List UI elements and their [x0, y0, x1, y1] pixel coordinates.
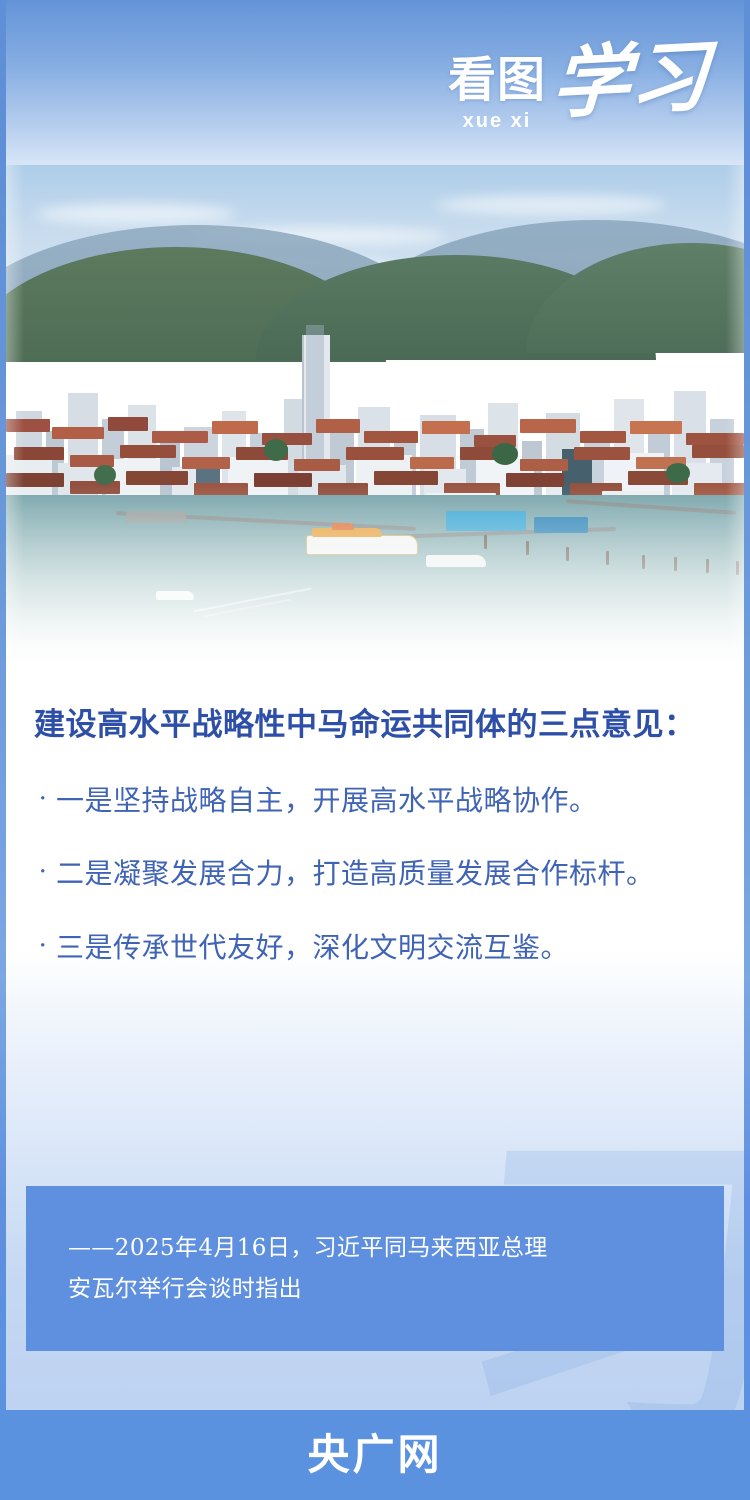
attribution-line-1: ——2025年4月16日，习近平同马来西亚总理	[68, 1228, 548, 1268]
brand-logo-pinyin: xue xi	[463, 111, 532, 131]
poster-header: 看图 xue xi 学习	[0, 0, 750, 180]
bullet-dot-icon: ·	[30, 930, 56, 963]
attribution-text: ——2025年4月16日，习近平同马来西亚总理 安瓦尔举行会谈时指出	[68, 1228, 548, 1309]
attribution-line-2: 安瓦尔举行会谈时指出	[68, 1269, 548, 1309]
bullet-dot-icon: ·	[30, 856, 56, 889]
bullet-list: · 一是坚持战略自主，开展高水平战略协作。 · 二是凝聚发展合力，打造高质量发展…	[30, 783, 720, 966]
bullet-text: 一是坚持战略自主，开展高水平战略协作。	[56, 783, 720, 819]
bullet-text: 三是传承世代友好，深化文明交流互鉴。	[56, 930, 720, 966]
bullet-dot-icon: ·	[30, 783, 56, 816]
photo-left-fade	[6, 165, 24, 685]
list-item: · 一是坚持战略自主，开展高水平战略协作。	[30, 783, 720, 819]
brand-logo-kantu: 看图	[448, 56, 546, 104]
bullet-text: 二是凝聚发展合力，打造高质量发展合作标杆。	[56, 856, 720, 892]
left-border-rail	[0, 0, 6, 1410]
brand-logo: 看图 xue xi 学习	[448, 44, 708, 154]
list-item: · 三是传承世代友好，深化文明交流互鉴。	[30, 930, 720, 966]
photo-right-fade	[726, 165, 744, 685]
content-heading: 建设高水平战略性中马命运共同体的三点意见：	[34, 706, 720, 745]
poster-root: 看图 xue xi 学习	[0, 0, 750, 1500]
footer-brand-logo: 央广网	[307, 1434, 442, 1476]
brand-logo-xuexi-calligraphy: 学习	[550, 40, 711, 122]
hero-photo-scene	[6, 165, 744, 685]
right-border-rail	[744, 0, 750, 1410]
hero-photo	[6, 165, 744, 685]
attribution-box: ——2025年4月16日，习近平同马来西亚总理 安瓦尔举行会谈时指出	[26, 1186, 724, 1351]
content-area: 建设高水平战略性中马命运共同体的三点意见： · 一是坚持战略自主，开展高水平战略…	[0, 706, 750, 1003]
photo-bottom-fade	[6, 485, 744, 685]
poster-footer: 央广网	[0, 1410, 750, 1500]
brand-logo-block: 看图 xue xi	[448, 56, 546, 131]
list-item: · 二是凝聚发展合力，打造高质量发展合作标杆。	[30, 856, 720, 892]
